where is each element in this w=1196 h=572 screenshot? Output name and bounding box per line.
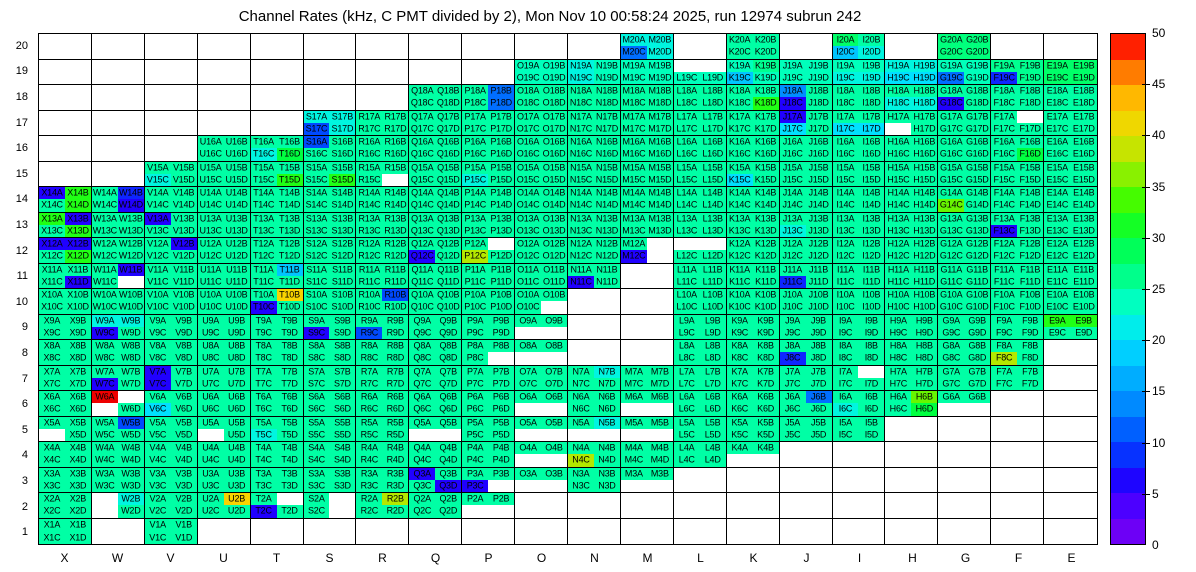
channel-label: M15D <box>648 175 671 184</box>
channel-label: J17A <box>783 112 803 121</box>
channel-cell: X3B <box>65 468 91 480</box>
channel-cell: Q7D <box>435 378 461 390</box>
channel-label: K6A <box>731 393 747 402</box>
channel-cell: Q16D <box>435 148 461 160</box>
channel-label: O10A <box>517 291 539 300</box>
channel-cell: V7B <box>171 366 197 378</box>
channel-cell: T8C <box>251 352 277 364</box>
channel-cell: F16B <box>1017 136 1043 148</box>
channel-cell: U7A <box>198 366 224 378</box>
grid-box: I2AI2BI2CI2D <box>833 493 886 519</box>
channel-cell: G7C <box>938 378 964 390</box>
channel-cell: F19D <box>1017 72 1043 84</box>
channel-cell: J18C <box>780 97 806 109</box>
channel-label: X9A <box>44 316 60 325</box>
channel-cell: I4D <box>858 454 884 466</box>
channel-label: R13C <box>358 226 380 235</box>
channel-label: V9D <box>175 328 192 337</box>
channel-cell: X9B <box>65 315 91 327</box>
channel-cell: F12C <box>991 250 1017 262</box>
channel-label: T10A <box>253 291 274 300</box>
channel-label: N15C <box>570 175 592 184</box>
channel-cell: E20A <box>1044 34 1070 46</box>
channel-cell: T8A <box>251 340 277 352</box>
channel-cell: J11A <box>780 264 806 276</box>
channel-cell: P16D <box>488 148 514 160</box>
x-tick-label: P <box>462 547 515 569</box>
channel-label: K12D <box>755 252 777 261</box>
grid-box: J10AJ10BJ10CJ10D <box>780 289 833 315</box>
channel-label: T8D <box>281 354 297 363</box>
channel-cell: X12C <box>39 250 65 262</box>
channel-label: F19A <box>994 61 1015 70</box>
channel-cell: P8D <box>488 352 514 364</box>
channel-cell: W19D <box>118 72 144 84</box>
channel-cell: M16B <box>647 136 673 148</box>
channel-cell: O10B <box>541 289 567 301</box>
channel-label: I8C <box>839 354 852 363</box>
grid-box: X2AX2BX2CX2D <box>39 493 92 519</box>
grid-box: F11AF11BF11CF11D <box>991 264 1044 290</box>
channel-label: T5C <box>255 430 271 439</box>
channel-cell: Q4D <box>435 454 461 466</box>
grid-box: N17AN17BN17CN17D <box>568 111 621 137</box>
channel-label: X6B <box>70 393 86 402</box>
channel-cell: W4C <box>92 454 118 466</box>
channel-label: W13D <box>119 226 143 235</box>
channel-cell: S18B <box>329 85 355 97</box>
y-tick-label: 12 <box>0 238 34 264</box>
channel-label: Q11A <box>411 265 433 274</box>
grid-box: K5AK5BK5CK5D <box>727 417 780 443</box>
channel-label: Q2C <box>413 507 431 516</box>
channel-label: G12D <box>966 252 989 261</box>
channel-cell: E10D <box>1071 301 1097 313</box>
channel-cell: L4A <box>674 442 700 454</box>
channel-label: M3B <box>651 469 669 478</box>
channel-label: S11D <box>332 277 353 286</box>
channel-label: O12B <box>543 240 565 249</box>
channel-cell: E7A <box>1044 366 1070 378</box>
channel-cell: F20B <box>1017 34 1043 46</box>
channel-cell: E1D <box>1071 531 1097 544</box>
channel-label: S16B <box>332 138 353 147</box>
grid-box: U2AU2BU2CU2D <box>198 493 251 519</box>
channel-cell: K8B <box>753 340 779 352</box>
channel-cell: F18C <box>991 97 1017 109</box>
grid-box: X1AX1BX1CX1D <box>39 519 92 545</box>
channel-label: G10B <box>966 291 988 300</box>
channel-cell: H4B <box>911 442 937 454</box>
colorbar-segment <box>1111 366 1145 392</box>
channel-label: G16B <box>966 138 988 147</box>
channel-label: X8D <box>69 354 86 363</box>
channel-cell: I2C <box>833 505 859 517</box>
channel-label: M20D <box>648 48 671 57</box>
channel-cell: J14A <box>780 187 806 199</box>
channel-label: N19B <box>596 61 618 70</box>
channel-cell: G11A <box>938 264 964 276</box>
grid-box: V12AV12BV12CV12D <box>145 238 198 264</box>
channel-label: E16C <box>1046 150 1068 159</box>
channel-cell: K18A <box>727 85 753 97</box>
channel-cell: N5A <box>568 417 594 429</box>
channel-label: G19C <box>940 73 963 82</box>
grid-box: T10AT10BT10CT10D <box>251 289 304 315</box>
channel-cell: M11D <box>647 276 673 288</box>
grid-box: O1AO1BO1CO1D <box>515 519 568 545</box>
channel-cell: T19B <box>277 60 303 72</box>
grid-box: N13AN13BN13CN13D <box>568 213 621 239</box>
grid-box: K8AK8BK8CK8D <box>727 340 780 366</box>
channel-cell: X14A <box>39 187 65 199</box>
channel-cell: G15D <box>964 174 990 186</box>
channel-cell: W9A <box>92 315 118 327</box>
channel-cell: H17A <box>885 111 911 123</box>
channel-label: S15B <box>332 163 353 172</box>
grid-box: W2AW2BW2CW2D <box>92 493 145 519</box>
grid-box: W7AW7BW7CW7D <box>92 366 145 392</box>
grid-box: O6AO6BO6CO6D <box>515 391 568 417</box>
channel-label: R13D <box>384 226 406 235</box>
channel-cell: V1B <box>171 519 197 532</box>
grid-box: K14AK14BK14CK14D <box>727 187 780 213</box>
grid-box: X18AX18BX18CX18D <box>39 85 92 111</box>
grid-box: X4AX4BX4CX4D <box>39 442 92 468</box>
channel-cell: O4A <box>515 442 541 454</box>
channel-label: I13C <box>836 226 854 235</box>
channel-label: N13A <box>570 214 592 223</box>
grid-box: S7AS7BS7CS7D <box>304 366 357 392</box>
channel-cell: K13C <box>727 225 753 237</box>
channel-label: L17C <box>676 124 697 133</box>
grid-box: P19AP19BP19CP19D <box>462 60 515 86</box>
channel-label: E17C <box>1046 124 1068 133</box>
channel-cell: V1D <box>171 531 197 544</box>
channel-label: K10A <box>729 291 750 300</box>
channel-cell: N17C <box>568 123 594 135</box>
channel-label: W7D <box>121 379 140 388</box>
channel-cell: E12D <box>1071 250 1097 262</box>
channel-cell: N8D <box>594 352 620 364</box>
channel-cell: F17A <box>991 111 1017 123</box>
channel-cell: F6B <box>1017 391 1043 403</box>
channel-cell: E6A <box>1044 391 1070 403</box>
channel-cell: K13A <box>727 213 753 225</box>
channel-cell: P19A <box>462 60 488 72</box>
channel-label: V4C <box>149 456 166 465</box>
channel-label: O13B <box>543 214 565 223</box>
colorbar-segment <box>1111 111 1145 137</box>
channel-cell: G6D <box>964 403 990 415</box>
channel-cell: X13D <box>65 225 91 237</box>
channel-cell: J7B <box>806 366 832 378</box>
channel-cell: W8D <box>118 352 144 364</box>
grid-box: O13AO13BO13CO13D <box>515 213 568 239</box>
channel-label: S15A <box>306 163 327 172</box>
channel-label: G19A <box>940 61 962 70</box>
channel-cell: U20B <box>224 34 250 46</box>
channel-label: U10D <box>226 303 248 312</box>
channel-cell: Q6A <box>409 391 435 403</box>
channel-label: V5B <box>175 418 191 427</box>
channel-cell: I17D <box>858 123 884 135</box>
channel-cell: V4B <box>171 442 197 454</box>
channel-label: T5B <box>282 418 298 427</box>
channel-label: P14B <box>491 189 512 198</box>
channel-cell: H13A <box>885 213 911 225</box>
channel-label: K12B <box>755 240 776 249</box>
channel-cell: L1A <box>674 519 700 532</box>
channel-cell: T6B <box>277 391 303 403</box>
channel-cell: U16B <box>224 136 250 148</box>
channel-cell: T16A <box>251 136 277 148</box>
channel-cell: H9B <box>911 315 937 327</box>
channel-cell: T9D <box>277 327 303 339</box>
channel-cell: E17D <box>1071 123 1097 135</box>
channel-label: N16C <box>570 150 592 159</box>
y-tick-label: 5 <box>0 417 34 443</box>
channel-cell: T10D <box>277 301 303 313</box>
channel-label: W11C <box>93 277 117 286</box>
channel-label: H19A <box>888 61 910 70</box>
channel-cell: W5A <box>92 417 118 429</box>
channel-cell: O17B <box>541 111 567 123</box>
channel-cell: I2B <box>858 493 884 505</box>
channel-cell: Q5D <box>435 429 461 441</box>
channel-cell: J9A <box>780 315 806 327</box>
channel-cell: K20B <box>753 34 779 46</box>
channel-cell: O12B <box>541 238 567 250</box>
channel-label: P18A <box>465 87 486 96</box>
channel-cell: J17B <box>806 111 832 123</box>
channel-cell: Q16A <box>409 136 435 148</box>
channel-cell: O12D <box>541 250 567 262</box>
channel-cell: J18A <box>780 85 806 97</box>
channel-cell: H9C <box>885 327 911 339</box>
channel-label: X2A <box>44 495 60 504</box>
channel-cell: W14B <box>118 187 144 199</box>
channel-cell: J17A <box>780 111 806 123</box>
channel-cell: U6D <box>224 403 250 415</box>
grid-box: V10AV10BV10CV10D <box>145 289 198 315</box>
channel-label: L6A <box>679 393 694 402</box>
grid-box: P2AP2BP2CP2D <box>462 493 515 519</box>
channel-label: Q14B <box>437 189 459 198</box>
channel-cell: U12A <box>198 238 224 250</box>
channel-cell: K12B <box>753 238 779 250</box>
colorbar-segment <box>1111 136 1145 162</box>
channel-label: S4C <box>308 456 325 465</box>
channel-label: L5A <box>679 418 694 427</box>
channel-label: I9C <box>839 328 852 337</box>
channel-label: H16A <box>888 138 910 147</box>
channel-label: V6B <box>175 393 191 402</box>
channel-cell: L5B <box>700 417 726 429</box>
channel-cell: I17A <box>833 111 859 123</box>
channel-label: N17C <box>570 124 592 133</box>
channel-label: I19B <box>863 61 881 70</box>
channel-label: W12C <box>93 252 117 261</box>
channel-label: O14D <box>543 201 566 210</box>
channel-cell: O5C <box>515 429 541 441</box>
channel-label: K6B <box>757 393 773 402</box>
channel-cell: M8C <box>621 352 647 364</box>
channel-cell: J13B <box>806 213 832 225</box>
channel-cell: N3B <box>594 468 620 480</box>
channel-cell: L5D <box>700 429 726 441</box>
channel-cell: W16D <box>118 148 144 160</box>
channel-cell: Q16B <box>435 136 461 148</box>
channel-cell: S11D <box>329 276 355 288</box>
grid-box: K12AK12BK12CK12D <box>727 238 780 264</box>
channel-cell: S16D <box>329 148 355 160</box>
channel-label: G14C <box>940 201 963 210</box>
channel-label: P13C <box>464 226 486 235</box>
channel-cell: G19B <box>964 60 990 72</box>
channel-label: O17B <box>543 112 565 121</box>
channel-cell: H16A <box>885 136 911 148</box>
channel-cell: S9B <box>329 315 355 327</box>
channel-label: P2A <box>467 495 483 504</box>
channel-label: W5B <box>121 418 140 427</box>
channel-cell: I19C <box>833 72 859 84</box>
channel-cell: K6C <box>727 403 753 415</box>
channel-cell: V17B <box>171 111 197 123</box>
channel-label: K5A <box>731 418 747 427</box>
channel-cell: L1D <box>700 531 726 544</box>
channel-label: L11A <box>677 265 697 274</box>
channel-label: E17B <box>1073 112 1094 121</box>
channel-label: V7C <box>149 379 166 388</box>
channel-label: U11A <box>200 265 221 274</box>
channel-cell: U2A <box>198 493 224 505</box>
channel-cell: T6A <box>251 391 277 403</box>
channel-cell: M1D <box>647 531 673 544</box>
grid-box: T8AT8BT8CT8D <box>251 340 304 366</box>
channel-cell: V15D <box>171 174 197 186</box>
channel-cell: F17D <box>1017 123 1043 135</box>
channel-cell: P14D <box>488 199 514 211</box>
channel-label: U13B <box>226 214 248 223</box>
channel-label: G10D <box>966 303 989 312</box>
channel-cell: J17C <box>780 123 806 135</box>
grid-box: E8AE8BE8CE8D <box>1044 340 1097 366</box>
channel-label: G7B <box>968 367 985 376</box>
channel-cell: L16A <box>674 136 700 148</box>
channel-cell: H15A <box>885 162 911 174</box>
channel-cell: J14C <box>780 199 806 211</box>
channel-label: U16D <box>226 150 248 159</box>
channel-label: W4C <box>95 456 114 465</box>
channel-cell: M4A <box>621 442 647 454</box>
channel-cell: T8B <box>277 340 303 352</box>
grid-box: N5AN5BN5CN5D <box>568 417 621 443</box>
grid-box: U4AU4BU4CU4D <box>198 442 251 468</box>
x-tick-label: H <box>886 547 939 569</box>
channel-label: N7D <box>598 379 615 388</box>
grid-box: I6AI6BI6CI6D <box>833 391 886 417</box>
channel-cell: V2B <box>171 493 197 505</box>
channel-label: V12B <box>173 240 194 249</box>
channel-label: I14A <box>837 189 855 198</box>
grid-box: M3AM3BM3CM3D <box>621 468 674 494</box>
channel-label: K14A <box>729 189 750 198</box>
grid-box: M12AM12BM12CM12D <box>621 238 674 264</box>
channel-label: U8D <box>228 354 245 363</box>
grid-box: K4AK4BK4CK4D <box>727 442 780 468</box>
channel-label: S10B <box>332 291 353 300</box>
grid-box: M9AM9BM9CM9D <box>621 315 674 341</box>
channel-cell: L12C <box>674 250 700 262</box>
channel-label: Q15A <box>411 163 433 172</box>
channel-label: F16A <box>994 138 1015 147</box>
channel-cell: G13D <box>964 225 990 237</box>
grid-box: H7AH7BH7CH7D <box>885 366 938 392</box>
channel-label: I9A <box>839 316 852 325</box>
grid-box: P3AP3BP3CP3D <box>462 468 515 494</box>
grid-box: E12AE12BE12CE12D <box>1044 238 1097 264</box>
channel-cell: R7A <box>356 366 382 378</box>
channel-label: Q2D <box>439 507 457 516</box>
channel-cell: U7C <box>198 378 224 390</box>
channel-cell: T15D <box>277 174 303 186</box>
channel-cell: E12B <box>1071 238 1097 250</box>
grid-box: W8AW8BW8CW8D <box>92 340 145 366</box>
channel-cell: W19B <box>118 60 144 72</box>
channel-label: X7A <box>44 367 60 376</box>
channel-cell: U18C <box>198 97 224 109</box>
channel-cell: P13A <box>462 213 488 225</box>
channel-label: E12A <box>1047 240 1068 249</box>
grid-box: W10AW10BW10CW10D <box>92 289 145 315</box>
channel-label: J16B <box>809 138 829 147</box>
grid-box: F18AF18BF18CF18D <box>991 85 1044 111</box>
channel-label: N6C <box>572 405 589 414</box>
channel-cell: Q20D <box>435 46 461 58</box>
channel-cell: F6D <box>1017 403 1043 415</box>
channel-cell: H2A <box>885 493 911 505</box>
channel-cell: W4B <box>118 442 144 454</box>
channel-cell: O5D <box>541 429 567 441</box>
channel-cell: R14C <box>356 199 382 211</box>
channel-cell: I2A <box>833 493 859 505</box>
channel-cell: E13C <box>1044 225 1070 237</box>
channel-cell: I19A <box>833 60 859 72</box>
channel-cell: Q5C <box>409 429 435 441</box>
channel-cell: O1D <box>541 531 567 544</box>
channel-label: R14C <box>358 201 380 210</box>
channel-cell: N13A <box>568 213 594 225</box>
channel-cell: G18D <box>964 97 990 109</box>
channel-label: U13A <box>200 214 222 223</box>
channel-label: X12A <box>41 240 62 249</box>
channel-label: M5A <box>625 418 643 427</box>
channel-cell: H13B <box>911 213 937 225</box>
channel-cell: I13D <box>858 225 884 237</box>
channel-cell: L14C <box>674 199 700 211</box>
grid-box: W14AW14BW14CW14D <box>92 187 145 213</box>
channel-cell: O3C <box>515 480 541 492</box>
channel-label: K5C <box>731 430 748 439</box>
channel-label: E19B <box>1073 61 1094 70</box>
grid-box: F8AF8BF8CF8D <box>991 340 1044 366</box>
channel-label: T8C <box>255 354 271 363</box>
channel-cell: P2D <box>488 505 514 517</box>
channel-cell: E17C <box>1044 123 1070 135</box>
channel-cell: V7C <box>145 378 171 390</box>
channel-cell: H1B <box>911 519 937 532</box>
